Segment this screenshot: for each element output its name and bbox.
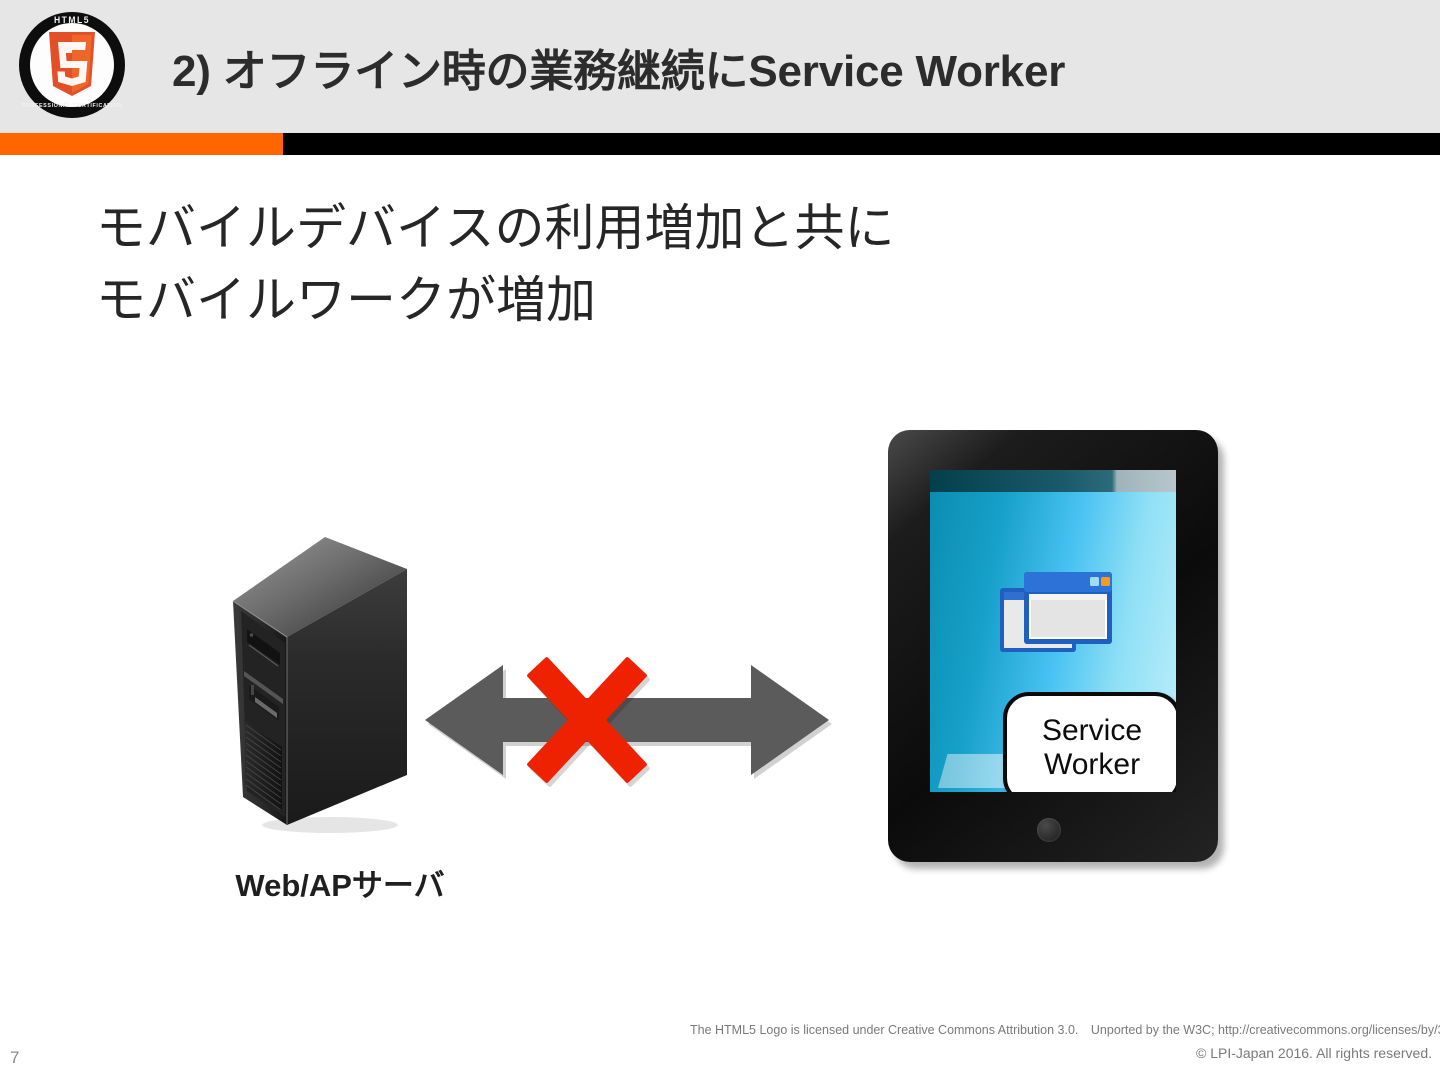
- server-label: Web/APサーバ: [120, 860, 560, 905]
- service-worker-badge: Service Worker: [1003, 692, 1176, 792]
- screen-status-bar: [930, 470, 1176, 492]
- service-worker-badge-line-1: Service: [1042, 714, 1142, 748]
- service-worker-badge-line-2: Worker: [1044, 748, 1140, 782]
- license-note: The HTML5 Logo is licensed under Creativ…: [690, 1019, 1430, 1038]
- tablet-screen: Service Worker: [930, 470, 1176, 792]
- browser-windows-icon: [998, 568, 1116, 670]
- server-tower-icon: [225, 525, 425, 835]
- page-number: 7: [10, 1048, 19, 1068]
- connection-arrow-blocked: [425, 640, 835, 800]
- diagram-area: Web/APサーバ: [0, 0, 1440, 1080]
- tablet-home-button: [1037, 818, 1061, 842]
- copyright-note: © LPI-Japan 2016. All rights reserved.: [1196, 1045, 1432, 1061]
- tablet-device-icon: Service Worker: [888, 430, 1218, 862]
